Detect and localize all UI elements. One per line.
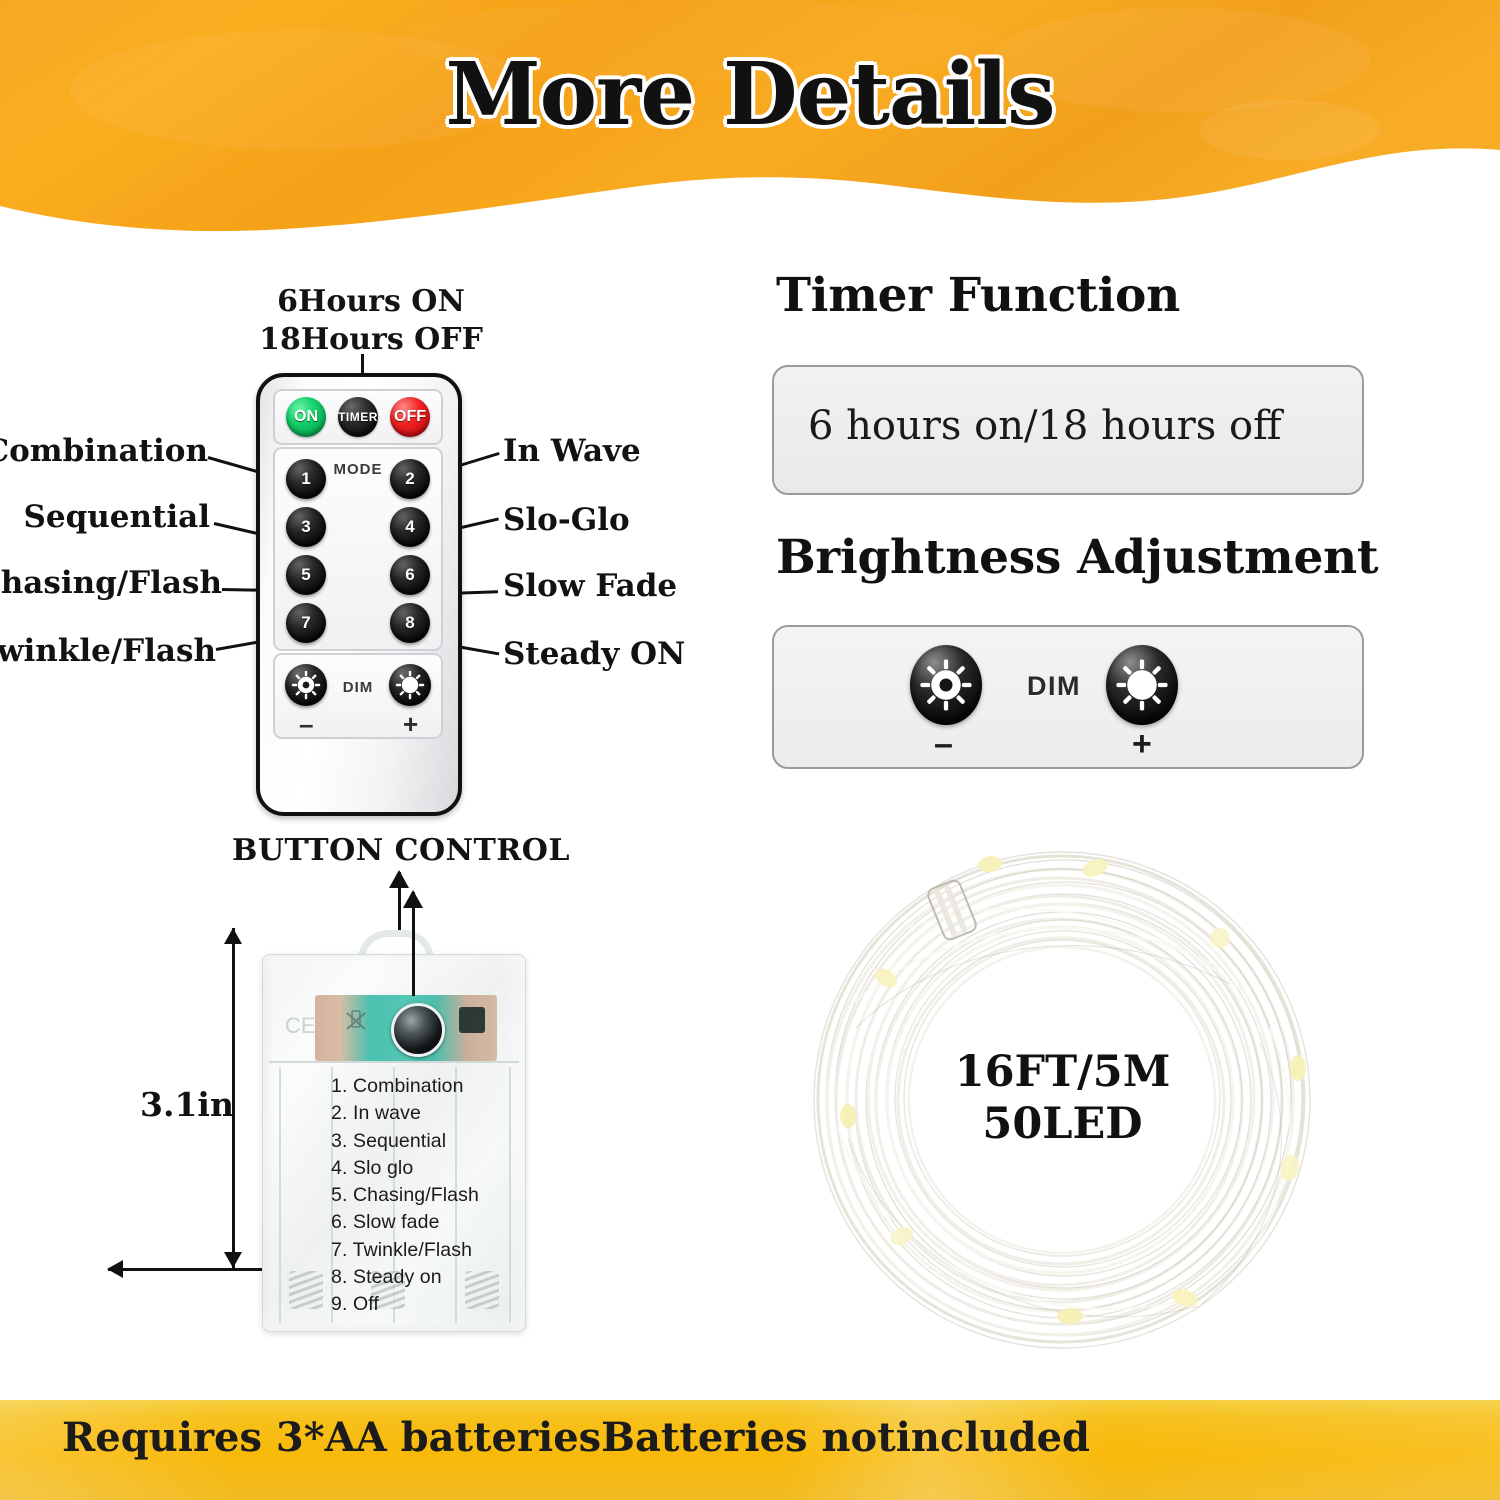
remote-label-slo-glo: Slo-Glo	[503, 502, 630, 538]
mode-item: 6. Slow fade	[331, 1209, 531, 1236]
header-banner: More Details	[0, 0, 1500, 240]
remote-timer-caption: 6Hours ON 18Hours OFF	[226, 283, 516, 359]
timer-function-title: Timer Function	[776, 268, 1180, 323]
brightness-dim-down-button[interactable]	[910, 645, 982, 725]
remote-number-button-4-label: 4	[390, 507, 430, 547]
led-string-light-coil: 16FT/5M 50LED	[790, 828, 1335, 1373]
remote-number-button-2[interactable]: 2	[390, 459, 430, 499]
remote-label-twinkle-flash: Twinkle/Flash	[0, 633, 216, 669]
timer-caption-line-1: 6Hours ON	[277, 284, 465, 319]
footer-note: Requires 3*AA batteriesBatteries notincl…	[62, 1414, 1090, 1461]
battery-box: CE 1. Combination 2. In wave 3	[262, 930, 524, 1330]
led-coil-count: 50LED	[982, 1099, 1142, 1149]
brightness-plus-sign: +	[1132, 727, 1152, 761]
remote-number-button-6-label: 6	[390, 555, 430, 595]
remote-number-button-7-label: 7	[286, 603, 326, 643]
product-detail-page: More Details 6Hours ON 18Hours OFF ON TI…	[0, 0, 1500, 1500]
remote-label-sequential: Sequential	[23, 499, 210, 535]
remote-number-button-5-label: 5	[286, 555, 326, 595]
brightness-gear-icon	[291, 670, 321, 700]
remote-timer-button-label: TIMER	[338, 397, 378, 437]
remote-minus-sign: –	[299, 711, 313, 737]
remote-label-steady-on: Steady ON	[503, 636, 685, 672]
battery-box-modes-list: 1. Combination 2. In wave 3. Sequential …	[331, 1073, 531, 1319]
mode-item: 1. Combination	[331, 1073, 531, 1100]
battery-spring	[289, 1271, 323, 1309]
battery-box-power-switch[interactable]	[391, 1003, 445, 1057]
mode-item: 8. Steady on	[331, 1264, 531, 1291]
crossed-bin-icon	[343, 1007, 369, 1033]
remote-label-in-wave: In Wave	[503, 433, 641, 469]
button-control-arrow	[398, 872, 401, 932]
mode-item: 9. Off	[331, 1291, 531, 1318]
timer-function-value-box: 6 hours on/18 hours off	[772, 365, 1364, 495]
remote-top-panel: ON TIMER OFF	[273, 389, 443, 445]
remote-number-button-4[interactable]: 4	[390, 507, 430, 547]
remote-number-button-1-label: 1	[286, 459, 326, 499]
battery-box-chip	[459, 1007, 485, 1033]
remote-number-button-1[interactable]: 1	[286, 459, 326, 499]
remote-label-chasing-flash: Chasing/Flash	[0, 565, 222, 601]
brightness-dim-up-button[interactable]	[1106, 645, 1178, 725]
remote-plus-sign: +	[403, 711, 418, 737]
brightness-adjustment-box: DIM – +	[772, 625, 1364, 769]
led-coil-spec-text: 16FT/5M 50LED	[790, 1046, 1335, 1151]
dimension-height-label: 3.1in	[140, 1085, 234, 1124]
remote-number-button-5[interactable]: 5	[286, 555, 326, 595]
mode-item: 4. Slo glo	[331, 1155, 531, 1182]
remote-on-button[interactable]: ON	[286, 397, 326, 437]
battery-box-divider	[269, 1061, 519, 1063]
remote-number-button-7[interactable]: 7	[286, 603, 326, 643]
mode-item: 2. In wave	[331, 1100, 531, 1127]
brightness-gear-icon	[1115, 658, 1169, 712]
page-title: More Details	[0, 44, 1500, 145]
timer-function-value: 6 hours on/18 hours off	[808, 403, 1282, 449]
mode-item: 7. Twinkle/Flash	[331, 1237, 531, 1264]
remote-number-button-2-label: 2	[390, 459, 430, 499]
timer-caption-line-2: 18Hours OFF	[259, 322, 483, 357]
remote-number-button-3[interactable]: 3	[286, 507, 326, 547]
remote-on-button-label: ON	[286, 397, 326, 437]
ce-mark-icon: CE	[285, 1013, 315, 1039]
remote-off-button-label: OFF	[390, 397, 430, 437]
remote-label-combination: Combination	[0, 433, 208, 469]
remote-control[interactable]: ON TIMER OFF MODE 1 2 3 4 5 6 7 8 DIM	[256, 373, 462, 816]
battery-box-switch-pointer	[412, 892, 415, 996]
brightness-minus-sign: –	[934, 727, 953, 761]
mode-item: 5. Chasing/Flash	[331, 1182, 531, 1209]
remote-label-slow-fade: Slow Fade	[503, 568, 677, 604]
remote-number-button-6[interactable]: 6	[390, 555, 430, 595]
footer-banner: Requires 3*AA batteriesBatteries notincl…	[0, 1400, 1500, 1500]
remote-number-button-3-label: 3	[286, 507, 326, 547]
remote-dim-up-button[interactable]	[389, 664, 431, 706]
led-coil-length: 16FT/5M	[955, 1047, 1171, 1097]
battery-box-shell: CE 1. Combination 2. In wave 3	[262, 954, 526, 1332]
button-control-caption: BUTTON CONTROL	[232, 833, 570, 868]
remote-number-button-8-label: 8	[390, 603, 430, 643]
brightness-adjustment-title: Brightness Adjustment	[776, 530, 1378, 585]
mode-item: 3. Sequential	[331, 1128, 531, 1155]
brightness-dim-label: DIM	[1010, 671, 1098, 702]
remote-dim-down-button[interactable]	[285, 664, 327, 706]
remote-mode-panel: MODE 1 2 3 4 5 6 7 8	[273, 447, 443, 651]
remote-number-button-8[interactable]: 8	[390, 603, 430, 643]
brightness-gear-icon	[919, 658, 973, 712]
remote-off-button[interactable]: OFF	[390, 397, 430, 437]
remote-timer-button[interactable]: TIMER	[338, 397, 378, 437]
remote-dim-panel: DIM	[273, 653, 443, 739]
brightness-gear-icon	[395, 670, 425, 700]
